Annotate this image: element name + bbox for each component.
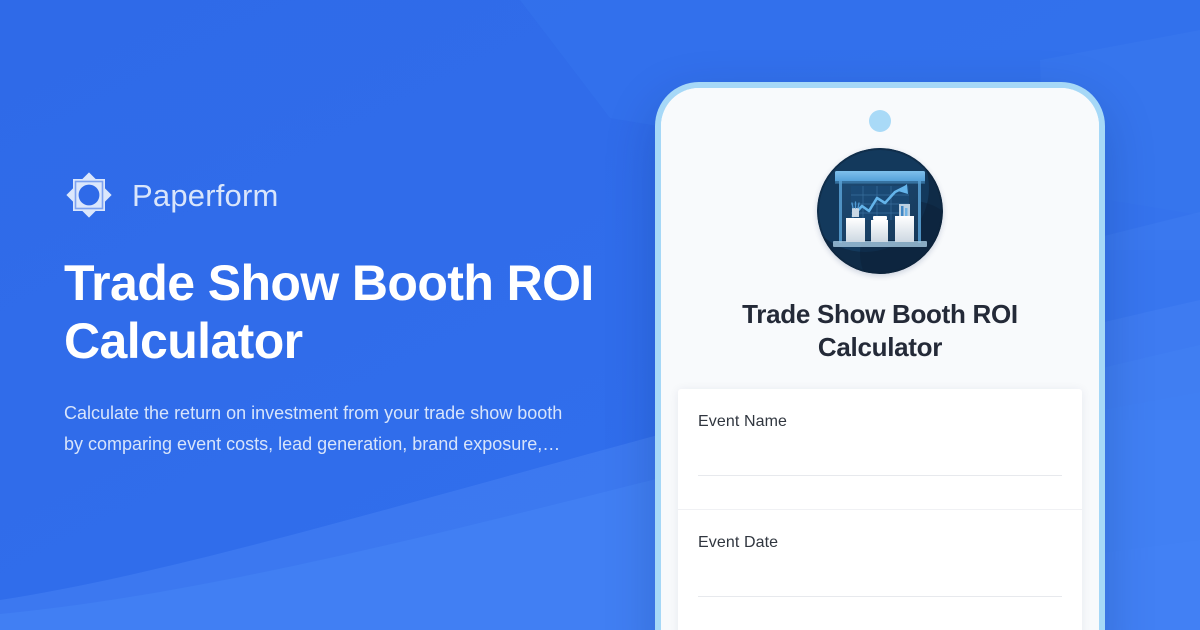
brand-name: Paperform bbox=[132, 180, 279, 211]
field-label-event-date: Event Date bbox=[698, 534, 1062, 552]
paperform-logo-icon bbox=[64, 170, 114, 220]
page-title: Trade Show Booth ROI Calculator bbox=[64, 254, 624, 370]
og-image-canvas: Paperform Trade Show Booth ROI Calculato… bbox=[0, 0, 1200, 630]
field-input-event-date[interactable] bbox=[698, 596, 1062, 597]
form-title: Trade Show Booth ROI Calculator bbox=[710, 298, 1050, 365]
field-input-event-name[interactable] bbox=[698, 475, 1062, 476]
camera-dot-icon bbox=[869, 110, 891, 132]
page-description: Calculate the return on investment from … bbox=[64, 398, 579, 460]
form-field-event-name[interactable]: Event Name bbox=[678, 389, 1082, 510]
phone-mockup: Trade Show Booth ROI Calculator Event Na… bbox=[655, 82, 1105, 630]
phone-screen: Trade Show Booth ROI Calculator Event Na… bbox=[661, 88, 1099, 630]
brand-lockup: Paperform bbox=[64, 170, 664, 220]
field-label-event-name: Event Name bbox=[698, 413, 1062, 431]
trade-show-booth-illustration-icon bbox=[817, 148, 943, 274]
hero-text-column: Paperform Trade Show Booth ROI Calculato… bbox=[64, 0, 664, 630]
form-field-event-date[interactable]: Event Date bbox=[678, 510, 1082, 630]
form-card: Event Name Event Date bbox=[678, 389, 1082, 630]
